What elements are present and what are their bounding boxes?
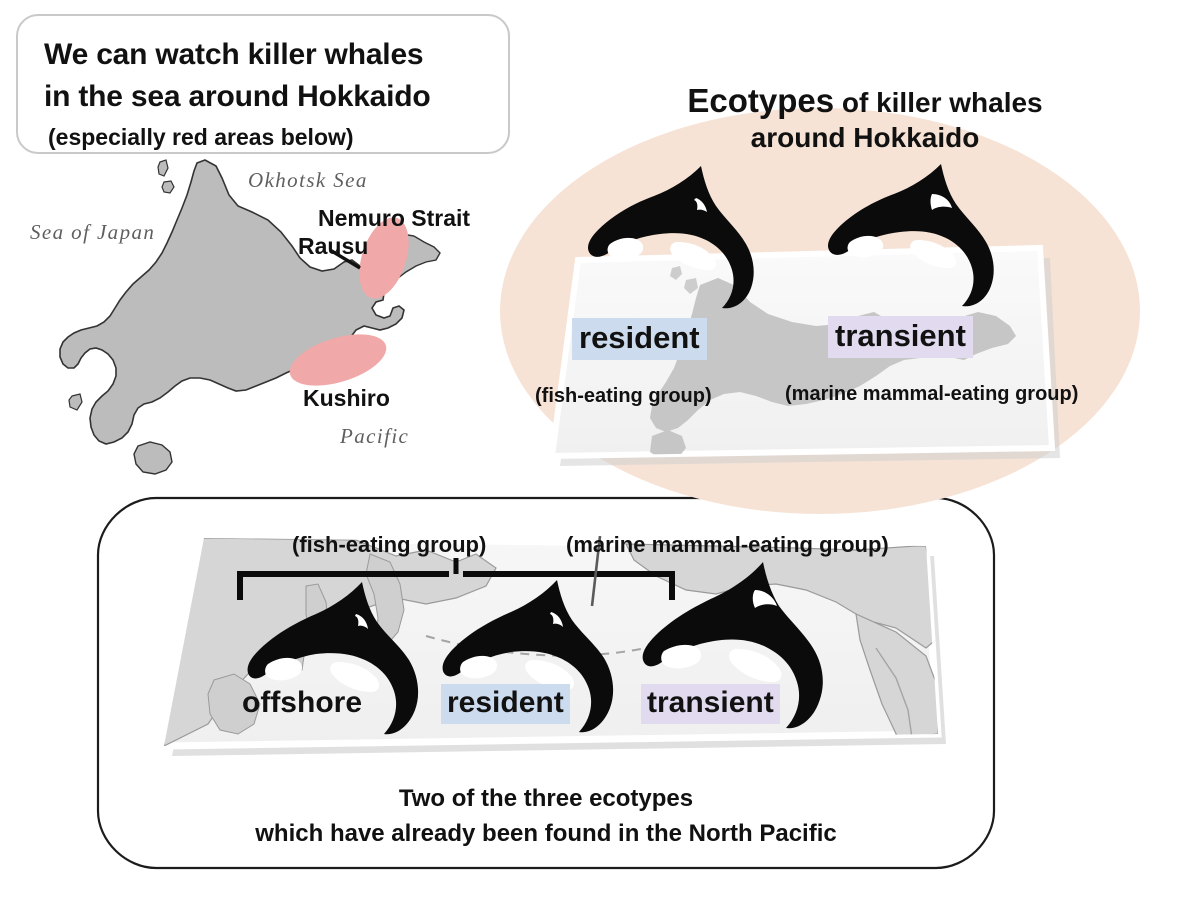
north-pacific-caption: Two of the three ecotypes which have alr… <box>96 782 996 852</box>
ecotypes-heading: Ecotypes of killer whales around Hokkaid… <box>630 82 1100 154</box>
hokkaido-map: Okhotsk Sea Sea of Japan Pacific Nemuro … <box>0 150 530 490</box>
sea-label-okhotsk: Okhotsk Sea <box>248 168 368 193</box>
ecotype-label-resident: resident <box>572 318 707 360</box>
whale-belly-patch <box>670 242 716 270</box>
title-line-1: We can watch killer whales <box>44 38 423 72</box>
title-line-2: in the sea around Hokkaido <box>44 80 431 114</box>
islet-north-1 <box>158 160 168 176</box>
ecotypes-heading-rest: of killer whales <box>834 87 1043 118</box>
ecotypes-section: Ecotypes of killer whales around Hokkaid… <box>480 60 1200 480</box>
caption-line-1: Two of the three ecotypes <box>399 785 693 812</box>
place-label-rausu: Rausu <box>298 233 368 260</box>
whale-body-group <box>588 166 754 308</box>
np-group-label-marine-mammal: (marine mammal-eating group) <box>566 532 889 558</box>
ecotype-sublabel-resident: (fish-eating group) <box>535 385 712 408</box>
whale-belly-patch <box>910 240 956 268</box>
caption-line-2: which have already been found in the Nor… <box>255 820 836 847</box>
title-callout-box: We can watch killer whales in the sea ar… <box>16 14 510 154</box>
whale-body <box>828 164 994 306</box>
np-ecotype-label-offshore: offshore <box>236 684 368 724</box>
infographic-canvas: We can watch killer whales in the sea ar… <box>0 0 1200 923</box>
ecotypes-heading-emphasis: Ecotypes <box>687 82 834 119</box>
place-label-kushiro: Kushiro <box>303 385 390 412</box>
np-ecotype-label-resident: resident <box>441 684 570 724</box>
np-ecotype-label-transient: transient <box>641 684 780 724</box>
islet-southwest-1 <box>69 394 82 410</box>
ecotype-label-transient: transient <box>828 316 973 358</box>
whale-transient-icon <box>820 158 1010 308</box>
ecotype-sublabel-transient: (marine mammal-eating group) <box>785 383 1078 406</box>
islet-south-honshu <box>134 442 172 474</box>
whale-resident-icon <box>580 160 770 310</box>
sea-label-sea-of-japan: Sea of Japan <box>30 220 155 245</box>
hokkaido-map-svg <box>0 150 530 490</box>
whale-body <box>588 166 754 308</box>
np-group-label-fish-eating: (fish-eating group) <box>292 532 486 558</box>
north-pacific-callout-bubble: (fish-eating group) (marine mammal-eatin… <box>96 498 996 868</box>
sea-label-pacific: Pacific <box>340 424 409 449</box>
whale-belly-patch <box>729 649 781 682</box>
ecotypes-heading-line2: around Hokkaido <box>751 122 980 153</box>
title-subtitle: (especially red areas below) <box>48 124 354 151</box>
place-label-nemuro-strait: Nemuro Strait <box>318 205 470 232</box>
islet-north-2 <box>162 181 174 193</box>
whale-body-group <box>828 164 994 306</box>
